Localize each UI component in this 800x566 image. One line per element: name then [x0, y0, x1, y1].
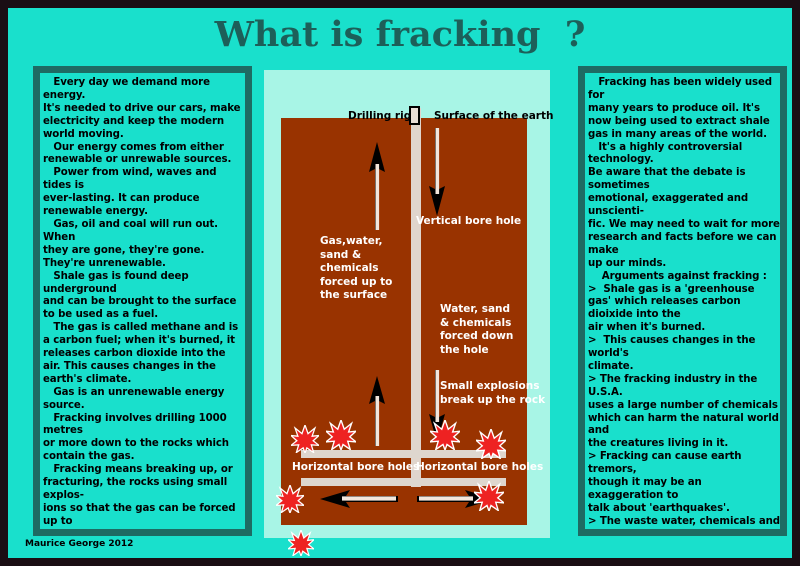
explosion-icon	[474, 481, 504, 511]
label-horizontal-bore-holes-left: Horizontal bore holes	[292, 461, 419, 475]
fracking-diagram: Drilling rig Surface of the earth Vertic…	[264, 70, 550, 538]
page-title: What is fracking ?	[8, 14, 792, 55]
label-small-explosions: Small explosions break up the rock	[440, 380, 545, 407]
down-arrow-upper-icon	[428, 128, 446, 216]
infographic-page: What is fracking ? Every day we demand m…	[0, 0, 800, 566]
attribution-text: Maurice George 2012	[25, 539, 133, 549]
label-water-forced-down: Water, sand & chemicals forced down the …	[440, 303, 513, 357]
explosion-icon	[476, 429, 506, 459]
up-arrow-upper-icon	[368, 142, 386, 230]
left-panel-text: Every day we demand more energy. It's ne…	[40, 73, 245, 536]
right-panel-text: Fracking has been widely used for many y…	[585, 73, 780, 529]
label-horizontal-bore-holes-right: Horizontal bore holes	[416, 461, 543, 475]
left-arrow-bottom-icon	[320, 489, 398, 509]
label-gas-forced-up: Gas,water, sand & chemicals forced up to…	[320, 235, 392, 303]
vertical-bore-hole-shaft	[411, 108, 421, 487]
label-vertical-bore-hole: Vertical bore hole	[416, 215, 521, 229]
explosion-icon	[276, 485, 304, 513]
right-text-panel: Fracking has been widely used for many y…	[578, 66, 787, 536]
up-arrow-lower-icon	[368, 376, 386, 446]
explosion-icon	[288, 530, 314, 556]
explosion-icon	[326, 420, 356, 450]
label-drilling-rig: Drilling rig	[348, 110, 411, 124]
poster-canvas: What is fracking ? Every day we demand m…	[8, 8, 792, 558]
explosion-icon	[430, 420, 460, 450]
explosion-icon	[291, 425, 319, 453]
left-text-panel: Every day we demand more energy. It's ne…	[33, 66, 252, 536]
label-surface-of-earth: Surface of the earth	[434, 110, 553, 124]
